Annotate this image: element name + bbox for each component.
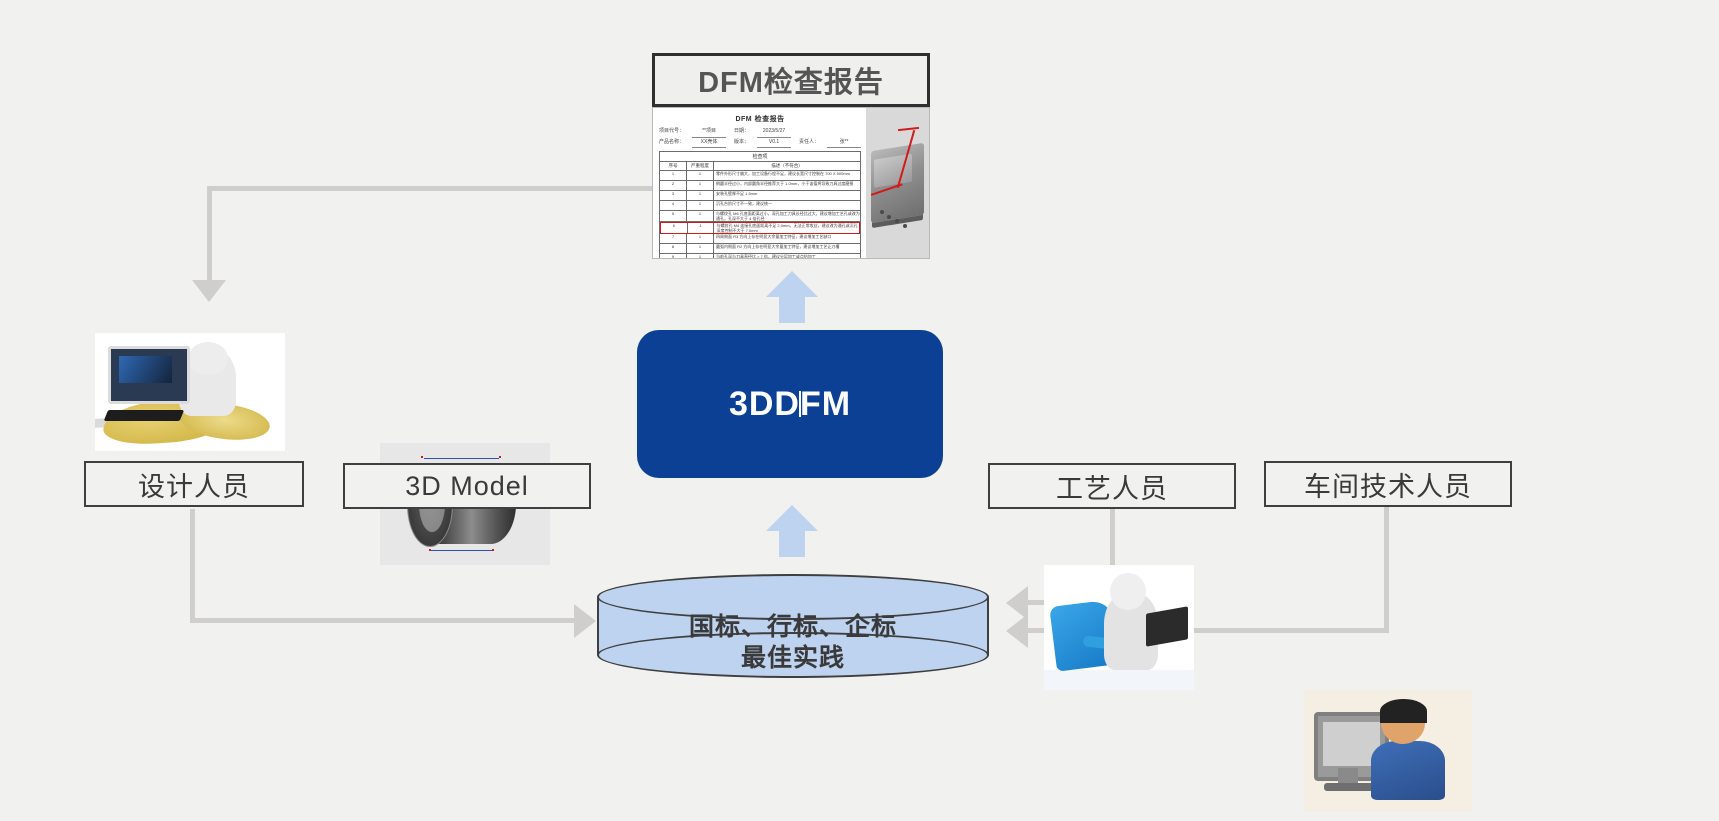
scan-row-no: 2 xyxy=(660,181,687,190)
report-title-box: DFM检查报告 xyxy=(652,53,930,107)
scan-meta-v-4: 张** xyxy=(827,138,861,149)
connector-report-to-designer-horizontal xyxy=(207,186,657,191)
process-engineer-photo xyxy=(1044,565,1194,690)
scan-meta-v-1: 2023/5/27 xyxy=(757,127,791,138)
scan-row: 8 1 圆弧内侧面 R2 方向上存在明显大余量加工特征，建议增加工艺让刀槽 xyxy=(660,244,860,254)
scan-row-sev: 1 xyxy=(687,254,714,259)
scan-doc-title: DFM 检查报告 xyxy=(659,114,861,124)
center-label-left: 3DD xyxy=(729,385,800,424)
scan-row: 9 1 当前孔深与刀具直径比 > 7 倍，建议分层加工或点钻加工 xyxy=(660,254,860,259)
knowledge-base-text: 国标、行标、企标 最佳实践 xyxy=(597,612,989,675)
scan-row-no: 4 xyxy=(660,201,687,210)
connector-report-to-designer-vertical xyxy=(207,186,212,282)
scan-meta-k-2: 产品名称： xyxy=(659,138,684,149)
workshop-technician-photo xyxy=(1304,690,1472,812)
scan-row-desc: 倒圆半径过小，内部圆角半径推荐大于 1.0mm，小于该值将导致刀具过度磨损 xyxy=(714,181,860,190)
scan-col-1: 严重程度 xyxy=(687,162,714,170)
scan-3d-part-preview xyxy=(866,108,929,258)
label-process-engineer-text: 工艺人员 xyxy=(1056,467,1168,506)
center-3ddfm-box[interactable]: 3DDFM xyxy=(637,330,943,478)
scan-row: 3 1 安装孔壁厚不足 1.5mm xyxy=(660,191,860,201)
report-title-text: DFM检查报告 xyxy=(698,59,884,101)
label-3d-model[interactable]: 3D Model xyxy=(343,463,591,509)
scan-col-0: 序号 xyxy=(660,162,687,170)
connector-designer-to-kb-horizontal xyxy=(190,618,576,623)
scan-meta-k-3: 版本： xyxy=(734,138,749,149)
scan-row-no: 9 xyxy=(660,254,687,259)
scan-row-highlighted: 6 1 与螺纹孔 M4 连接孔底面距离不足 2.0mm，无法正常攻丝，建议改为通… xyxy=(660,222,860,234)
annotation-red-top xyxy=(897,126,918,130)
scan-row-no: 5 xyxy=(660,211,687,221)
scan-row: 7 1 四周侧面 R3 方向上存在明显大余量加工特征，建议增加工艺缺口 xyxy=(660,234,860,244)
scan-meta-block: 项目代号： **项目 日期： 2023/5/27 产品名称： XX壳体 版本： … xyxy=(659,127,861,148)
label-process-engineer[interactable]: 工艺人员 xyxy=(988,463,1236,509)
label-workshop-technician[interactable]: 车间技术人员 xyxy=(1264,461,1512,507)
scan-row-no: 7 xyxy=(660,234,687,243)
scan-row-desc: 当前孔深与刀具直径比 > 7 倍，建议分层加工或点钻加工 xyxy=(714,254,860,259)
diagram-canvas: DFM检查报告 DFM 检查报告 项目代号： **项目 日期： 2023/5/2… xyxy=(0,0,1719,821)
scan-row-sev: 1 xyxy=(687,191,714,200)
label-designer-text: 设计人员 xyxy=(138,465,250,504)
scan-row-sev: 1 xyxy=(687,181,714,190)
scan-row: 2 1 倒圆半径过小，内部圆角半径推荐大于 1.0mm，小于该值将导致刀具过度磨… xyxy=(660,181,860,191)
scan-row-no: 6 xyxy=(661,223,688,233)
scan-row-sev: 1 xyxy=(687,234,714,243)
scan-row-no: 3 xyxy=(660,191,687,200)
arrowhead-to-designer xyxy=(192,280,226,302)
arrow-center-to-report xyxy=(765,271,820,323)
scan-meta-k-1: 日期： xyxy=(734,127,749,138)
report-scan-thumbnail: DFM 检查报告 项目代号： **项目 日期： 2023/5/27 产品名称： … xyxy=(652,107,930,259)
scan-row-sev: 1 xyxy=(687,244,714,253)
scan-row-desc: 零件外形尺寸偏大，加工设备行程不足，建议长宽尺寸控制在 700 X 500mm xyxy=(714,171,860,180)
scan-row-sev: 1 xyxy=(687,171,714,180)
scan-findings-table: 检查项 序号 严重程度 描述（不符合） 1 1 零件外形尺寸偏大，加工设备行程不… xyxy=(659,151,861,259)
scan-row: 4 1 沉孔台阶尺寸不一致，建议统一 xyxy=(660,201,860,211)
scan-row-no: 8 xyxy=(660,244,687,253)
scan-meta-v-0: **项目 xyxy=(692,127,726,138)
connector-designer-to-kb-vertical xyxy=(190,509,195,621)
label-3d-model-text: 3D Model xyxy=(405,471,529,502)
scan-row-desc: 圆弧内侧面 R2 方向上存在明显大余量加工特征，建议增加工艺让刀槽 xyxy=(714,244,860,253)
scan-row: 1 1 零件外形尺寸偏大，加工设备行程不足，建议长宽尺寸控制在 700 X 50… xyxy=(660,171,860,181)
scan-table-header: 检查项 xyxy=(660,152,860,162)
scan-row-desc: 四周侧面 R3 方向上存在明显大余量加工特征，建议增加工艺缺口 xyxy=(714,234,860,243)
scan-row-sev: 1 xyxy=(687,201,714,210)
center-label-right: FM xyxy=(800,385,851,424)
scan-row-sev: 1 xyxy=(687,211,714,221)
scan-row-sev: 1 xyxy=(688,223,715,233)
scan-meta-v-2: XX壳体 xyxy=(692,138,726,149)
designer-workstation-photo xyxy=(95,333,285,451)
label-designer[interactable]: 设计人员 xyxy=(84,461,304,507)
scan-meta-k-0: 项目代号： xyxy=(659,127,684,138)
scan-meta-v-3: V0.1 xyxy=(757,138,791,149)
scan-row-desc: 沉孔台阶尺寸不一致，建议统一 xyxy=(714,201,860,210)
scan-table-columns: 序号 严重程度 描述（不符合） xyxy=(660,162,860,171)
connector-workshop-to-kb-vertical xyxy=(1384,507,1389,631)
scan-row-desc: 与螺纹孔 M4 连接孔底面距离不足 2.0mm，无法正常攻丝，建议改为通孔或沉孔… xyxy=(714,223,859,233)
knowledge-base-cylinder[interactable]: 国标、行标、企标 最佳实践 xyxy=(597,574,989,686)
scan-col-2: 描述（不符合） xyxy=(714,162,860,170)
scan-meta-k-4: 责任人： xyxy=(799,138,819,149)
scan-row-desc: 安装孔壁厚不足 1.5mm xyxy=(714,191,860,200)
scan-row-no: 1 xyxy=(660,171,687,180)
scan-document-body: DFM 检查报告 项目代号： **项目 日期： 2023/5/27 产品名称： … xyxy=(653,108,866,258)
arrowhead-workshop-to-kb xyxy=(1006,614,1028,648)
kb-line-2: 最佳实践 xyxy=(597,643,989,674)
scan-row: 5 1 与螺纹孔 M6 孔底面距离过小，深孔加工刀具长径比过大，建议增加工艺孔或… xyxy=(660,211,860,222)
arrowhead-designer-to-kb xyxy=(574,604,596,638)
kb-line-1: 国标、行标、企标 xyxy=(597,612,989,643)
label-workshop-technician-text: 车间技术人员 xyxy=(1304,465,1472,504)
arrow-kb-to-center xyxy=(765,505,820,557)
scan-row-desc: 与螺纹孔 M6 孔底面距离过小，深孔加工刀具长径比过大，建议增加工艺孔或改为通孔… xyxy=(714,211,860,221)
